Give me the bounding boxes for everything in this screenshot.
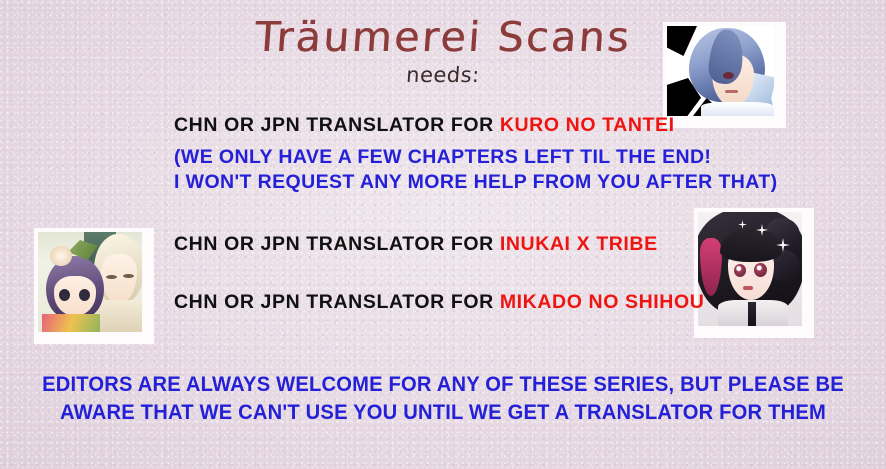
request-note-kuro-2: I WON'T REQUEST ANY MORE HELP FROM YOU A… (174, 170, 814, 195)
request-line-inukai: CHN OR JPN TRANSLATOR FOR INUKAI X TRIBE (174, 232, 658, 257)
inukai-girl-eye-right (79, 289, 90, 301)
request-prefix: CHN OR JPN TRANSLATOR FOR (174, 114, 500, 136)
inukai-girl-eye-left (59, 289, 70, 301)
poster-footer: EDITORS ARE ALWAYS WELCOME FOR ANY OF TH… (0, 371, 886, 427)
inukai-man-eye-left (106, 275, 117, 279)
inukai-x-tribe-thumbnail (34, 228, 154, 344)
kuro-eye (723, 72, 734, 79)
request-list: CHN OR JPN TRANSLATOR FOR KURO NO TANTEI… (174, 113, 814, 195)
mikado-no-shihou-thumbnail (694, 208, 814, 338)
mikado-eye-right (754, 263, 767, 277)
footer-line-2: AWARE THAT WE CAN'T USE YOU UNTIL WE GET… (18, 399, 869, 427)
inukai-hair-flower (50, 246, 72, 266)
kuro-artwork-canvas (667, 26, 774, 116)
kuro-mouth (725, 90, 738, 93)
recruitment-poster: Träumerei Scans needs: CHN OR JPN TRANSL… (0, 0, 886, 469)
request-prefix: CHN OR JPN TRANSLATOR FOR (174, 291, 500, 313)
footer-line-1: EDITORS ARE ALWAYS WELCOME FOR ANY OF TH… (18, 371, 869, 399)
mikado-artwork-canvas (698, 212, 802, 326)
series-title-inukai: INUKAI X TRIBE (500, 233, 658, 255)
mikado-eye-left (734, 264, 746, 277)
request-line-kuro: CHN OR JPN TRANSLATOR FOR KURO NO TANTEI (174, 113, 814, 138)
series-title-mikado: MIKADO NO SHIHOU (500, 291, 705, 313)
inukai-girl-kimono (42, 314, 100, 332)
request-note-kuro-1: (WE ONLY HAVE A FEW CHAPTERS LEFT TIL TH… (174, 145, 814, 170)
mikado-mouth (743, 286, 753, 290)
mikado-necktie (748, 302, 756, 326)
series-title-kuro: KURO NO TANTEI (500, 114, 675, 136)
inukai-man-eye-right (123, 274, 134, 278)
request-prefix: CHN OR JPN TRANSLATOR FOR (174, 233, 500, 255)
inukai-artwork-canvas (38, 232, 142, 332)
request-line-mikado: CHN OR JPN TRANSLATOR FOR MIKADO NO SHIH… (174, 290, 704, 315)
